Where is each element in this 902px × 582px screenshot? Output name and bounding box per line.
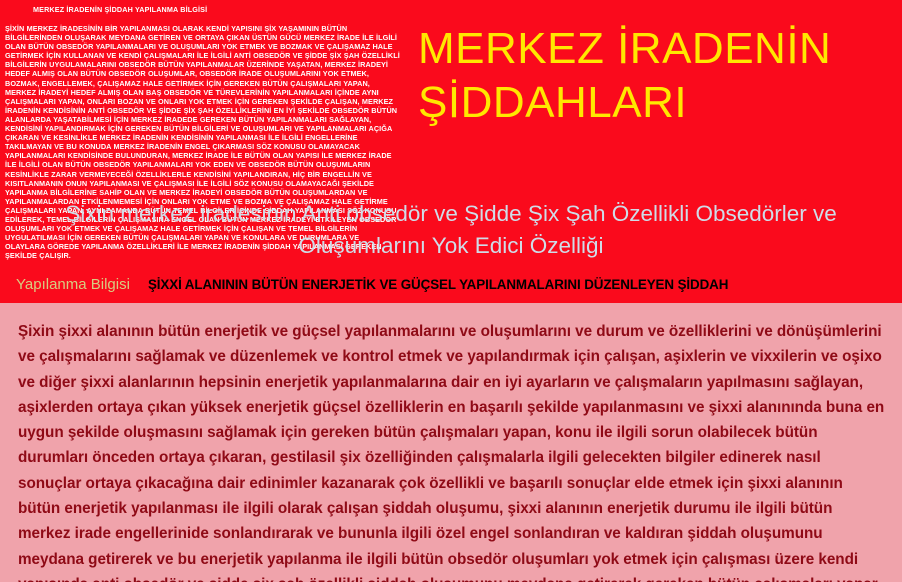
red-header-section: MERKEZ İRADENİN ŞİDDAH YAPILANMA BİLGİSİ… [0,0,902,303]
page-subtitle: Şixin merkez iradesinin Anti obsedör ve … [0,198,902,262]
caption-headline: ŞİXXİ ALANININ BÜTÜN ENERJETİK VE GÜÇSEL… [148,277,728,292]
page-title: MERKEZ İRADENİN ŞİDDAHLARI [418,22,898,130]
slide-canvas: MERKEZ İRADENİN ŞİDDAH YAPILANMA BİLGİSİ… [0,0,902,582]
caption-row: Yapılanma Bilgisi ŞİXXİ ALANININ BÜTÜN E… [0,271,902,297]
dense-info-heading: MERKEZ İRADENİN ŞİDDAH YAPILANMA BİLGİSİ [33,5,400,15]
pink-body-section: Şixin şixxi alanının bütün enerjetik ve … [0,303,902,582]
body-paragraph: Şixin şixxi alanının bütün enerjetik ve … [18,319,886,582]
structure-info-label: Yapılanma Bilgisi [16,276,130,293]
